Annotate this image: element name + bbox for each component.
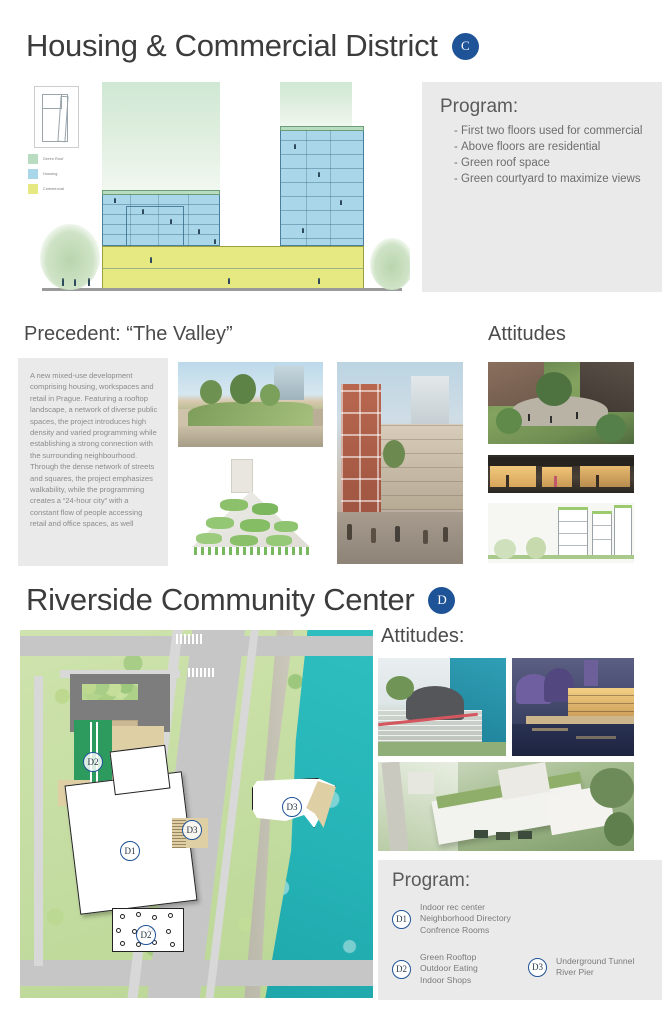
section-riverside-community-center: Riverside Community Center D [0, 570, 662, 1024]
legend-label-green-roof: Green Roof [43, 157, 64, 161]
program-item-list: First two floors used for commercial Abo… [440, 124, 648, 187]
program-item: Green roof space [454, 156, 648, 171]
riverside-site-plan: D2 D3 D1 D3 D2 [20, 630, 373, 998]
site-key-thumbnail [34, 86, 79, 148]
program-line: Indoor rec center [420, 902, 485, 912]
legend-swatch-green-roof [28, 154, 38, 164]
building-section-drawing: Green Roof Housing Commercial [18, 82, 410, 294]
precedent-street-plaza-photo [337, 362, 463, 564]
section-badge-c: C [452, 33, 479, 60]
program-item: First two floors used for commercial [454, 124, 648, 139]
attitude-riverfront-steps-render [378, 658, 506, 756]
program-panel-riverside: Program: D1 Indoor rec center Neighborho… [378, 860, 662, 1000]
building-footprint-upper-wing [110, 745, 171, 795]
program-line: Indoor Shops [420, 975, 471, 985]
section-c-title-text: Housing & Commercial District [26, 28, 438, 64]
precedent-description-text: A new mixed-use development comprising h… [30, 370, 158, 530]
program-entry-d2-lines: Green Rooftop Outdoor Eating Indoor Shop… [420, 952, 478, 986]
site-marker-d1-center[interactable]: D1 [120, 841, 140, 861]
program-marker-d1: D1 [392, 910, 411, 929]
section-d-title-text: Riverside Community Center [26, 582, 414, 618]
program-line: River Pier [556, 967, 594, 977]
program-line: Neighborhood Directory [420, 913, 511, 923]
precedent-rooftop-landscape-photo [178, 362, 323, 447]
section-housing-commercial-district: Housing & Commercial District C Green Ro… [0, 0, 662, 570]
program-line: Green Rooftop [420, 952, 476, 962]
program-line: Underground Tunnel [556, 956, 634, 966]
legend-item-green-roof: Green Roof [28, 154, 64, 164]
site-marker-d3-pier[interactable]: D3 [282, 797, 302, 817]
program-marker-d2: D2 [392, 960, 411, 979]
green-roof-left [102, 190, 220, 195]
program-item: Above floors are residential [454, 140, 648, 155]
section-badge-d: D [428, 587, 455, 614]
attitude-green-roof-aerial-render [378, 762, 634, 851]
attitude-night-retail-street-photo [488, 455, 634, 493]
program-line: Confrence Rooms [420, 925, 489, 935]
section-legend: Green Roof Housing Commercial [28, 154, 64, 199]
program-entry-d2: D2 Green Rooftop Outdoor Eating Indoor S… [392, 952, 478, 986]
site-marker-d2-plaza[interactable]: D2 [136, 925, 156, 945]
program-entry-d1: D1 Indoor rec center Neighborhood Direct… [392, 902, 511, 936]
legend-label-commercial: Commercial [43, 187, 64, 191]
attitudes-heading-d: Attitudes: [381, 625, 464, 648]
program-line: Outdoor Eating [420, 963, 478, 973]
site-marker-d3-tunnel[interactable]: D3 [182, 820, 202, 840]
precedent-heading: Precedent: “The Valley” [24, 323, 233, 346]
attitude-waterfront-night-render [512, 658, 634, 756]
housing-tower-right [280, 130, 364, 246]
housing-block-mid [126, 206, 184, 246]
program-entry-d3-lines: Underground Tunnel River Pier [556, 956, 634, 979]
page-title-housing-commercial: Housing & Commercial District C [26, 28, 479, 64]
program-panel-title: Program: [440, 96, 648, 118]
program-panel-title-d: Program: [392, 870, 662, 892]
program-panel-housing: Program: First two floors used for comme… [422, 82, 662, 292]
program-item: Green courtyard to maximize views [454, 172, 648, 187]
program-entry-d3: D3 Underground Tunnel River Pier [528, 956, 634, 979]
precedent-description-panel: A new mixed-use development comprising h… [18, 358, 168, 566]
site-marker-d2-rooftop[interactable]: D2 [83, 752, 103, 772]
attitudes-heading-c: Attitudes [488, 323, 566, 346]
legend-item-housing: Housing [28, 169, 64, 179]
program-marker-d3: D3 [528, 958, 547, 977]
attitude-section-diagram [488, 503, 634, 563]
legend-label-housing: Housing [43, 172, 58, 176]
page-title-riverside: Riverside Community Center D [26, 582, 455, 618]
green-roof-right [280, 126, 364, 131]
legend-swatch-housing [28, 169, 38, 179]
attitude-green-courtyard-photo [488, 362, 634, 444]
program-entry-d1-lines: Indoor rec center Neighborhood Directory… [420, 902, 511, 936]
precedent-massing-diagram [178, 455, 323, 563]
legend-swatch-commercial [28, 184, 38, 194]
legend-item-commercial: Commercial [28, 184, 64, 194]
